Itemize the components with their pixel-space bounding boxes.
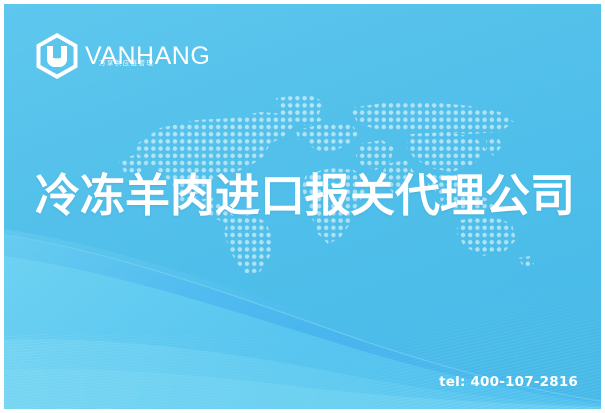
brand-wordmark-block: VANHANG 万享供应链管理 (85, 33, 210, 79)
hexagon-u-logo-icon (34, 32, 80, 80)
brand-logo: VANHANG 万享供应链管理 (34, 30, 210, 82)
contact-phone: tel: 400-107-2816 (439, 374, 578, 390)
banner-canvas: VANHANG 万享供应链管理 冷冻羊肉进口报关代理公司 tel: 400-10… (4, 4, 601, 409)
brand-subtitle-cn: 万享供应链管理 (99, 60, 154, 67)
wave-hairline-texture-left (4, 334, 384, 409)
promo-banner: VANHANG 万享供应链管理 冷冻羊肉进口报关代理公司 tel: 400-10… (0, 0, 605, 413)
headline-title: 冷冻羊肉进口报关代理公司 (35, 172, 580, 219)
